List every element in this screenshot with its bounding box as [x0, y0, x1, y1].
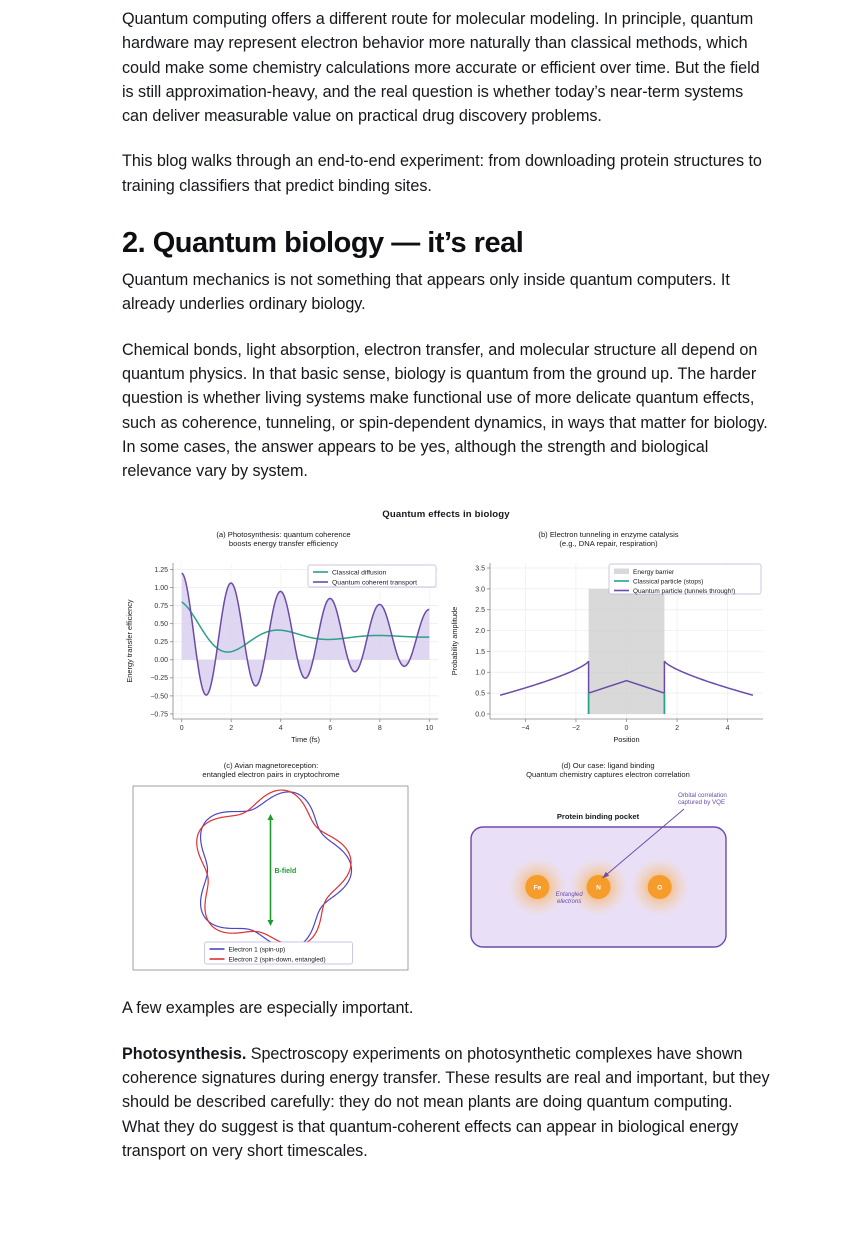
panel-c-legend-0: Electron 1 (spin-up)	[229, 947, 286, 954]
svg-text:4: 4	[279, 725, 283, 732]
svg-text:3.0: 3.0	[475, 587, 485, 594]
panel-d-atom-fe: Fe	[507, 857, 567, 917]
figure-suptitle: Quantum effects in biology	[121, 509, 771, 520]
article-content: Quantum computing offers a different rou…	[122, 7, 770, 1163]
chart-panel-d: (d) Our case: ligand bindingQuantum chem…	[446, 755, 771, 980]
figure-quantum-effects: Quantum effects in biology (a) Photosynt…	[121, 505, 771, 980]
panel-d-annotation-line2: captured by VQE	[678, 799, 725, 806]
svg-text:6: 6	[328, 725, 332, 732]
svg-text:0.5: 0.5	[475, 691, 485, 698]
panel-b-quantum-right	[664, 661, 752, 695]
svg-text:2.5: 2.5	[475, 608, 485, 615]
panel-a-xlabel: Time (fs)	[291, 735, 320, 744]
panel-a-title-line1: (a) Photosynthesis: quantum coherence	[216, 530, 350, 539]
svg-text:−0.25: −0.25	[150, 676, 168, 683]
svg-text:1.25: 1.25	[154, 567, 168, 574]
panel-d-title-line1: (d) Our case: ligand binding	[561, 761, 654, 770]
panel-d-atom-n: N	[569, 857, 629, 917]
panel-a-legend-0: Classical diffusion	[332, 570, 386, 577]
panel-b-legend-2: Quantum particle (tunnels through!)	[633, 588, 735, 595]
paragraph-blog-overview: This blog walks through an end-to-end ex…	[122, 149, 770, 198]
svg-text:2: 2	[229, 725, 233, 732]
paragraph-few-examples: A few examples are especially important.	[122, 996, 770, 1020]
svg-text:2.0: 2.0	[475, 628, 485, 635]
panel-d-annotation-line1: Orbital correlation	[678, 792, 727, 799]
panel-b-title-line1: (b) Electron tunneling in enzyme catalys…	[538, 530, 678, 539]
svg-text:1.5: 1.5	[475, 649, 485, 656]
chart-panel-c: (c) Avian magnetoreception:entangled ele…	[121, 755, 446, 980]
svg-text:0.0: 0.0	[475, 712, 485, 719]
chart-panel-b: (b) Electron tunneling in enzyme catalys…	[446, 527, 771, 755]
svg-text:−0.75: −0.75	[150, 712, 168, 719]
section-heading-quantum-biology: 2. Quantum biology — it’s real	[122, 226, 770, 260]
panel-c-title-line2: entangled electron pairs in cryptochrome	[202, 770, 339, 779]
panel-d-pocket-label: Protein binding pocket	[557, 812, 640, 821]
panel-b-title-line2: (e.g., DNA repair, respiration)	[559, 539, 658, 548]
panel-b-quantum-left	[500, 661, 588, 695]
blog-page: Quantum computing offers a different rou…	[0, 7, 867, 1234]
chart-panel-a: (a) Photosynthesis: quantum coherenceboo…	[121, 527, 446, 755]
svg-text:0.25: 0.25	[154, 640, 168, 647]
svg-text:−4: −4	[521, 725, 529, 732]
panel-c-legend-1: Electron 2 (spin-down, entangled)	[229, 957, 326, 964]
panel-d-atom-o: O	[630, 857, 690, 917]
svg-text:8: 8	[378, 725, 382, 732]
svg-text:O: O	[657, 885, 662, 892]
svg-text:1.0: 1.0	[475, 670, 485, 677]
panel-b-legend-0: Energy barrier	[633, 569, 675, 576]
paragraph-intro: Quantum computing offers a different rou…	[122, 7, 770, 128]
svg-text:−2: −2	[572, 725, 580, 732]
panel-c-bfield-label: B-field	[275, 868, 297, 875]
panel-d-entangled-label-line1: Entangled	[556, 892, 584, 898]
svg-text:0.75: 0.75	[154, 603, 168, 610]
paragraph-photosynthesis: Photosynthesis. Spectroscopy experiments…	[122, 1042, 770, 1163]
paragraph-chemical-bonds: Chemical bonds, light absorption, electr…	[122, 338, 770, 484]
panel-b-energy-barrier	[589, 589, 665, 714]
svg-text:N: N	[596, 885, 601, 892]
photosynthesis-lead: Photosynthesis.	[122, 1045, 246, 1063]
panel-b-ylabel: Probability amplitude	[450, 607, 459, 676]
svg-text:0: 0	[625, 725, 629, 732]
panel-b-legend-1: Classical particle (stops)	[633, 579, 703, 586]
svg-text:4: 4	[726, 725, 730, 732]
panel-a-legend-1: Quantum coherent transport	[332, 580, 417, 587]
panel-b-xlabel: Position	[613, 735, 639, 744]
svg-text:Fe: Fe	[533, 885, 541, 892]
svg-text:0.00: 0.00	[154, 658, 168, 665]
panel-d-title-line2: Quantum chemistry captures electron corr…	[526, 770, 690, 779]
panel-c-title-line1: (c) Avian magnetoreception:	[224, 761, 318, 770]
svg-text:3.5: 3.5	[475, 566, 485, 573]
svg-text:1.00: 1.00	[154, 585, 168, 592]
paragraph-quantum-mechanics: Quantum mechanics is not something that …	[122, 268, 770, 317]
svg-text:0.50: 0.50	[154, 622, 168, 629]
svg-text:0: 0	[180, 725, 184, 732]
svg-text:10: 10	[425, 725, 433, 732]
panel-d-entangled-label-line2: electrons	[557, 899, 581, 905]
panel-a-title-line2: boosts energy transfer efficiency	[229, 539, 338, 548]
svg-text:−0.50: −0.50	[150, 694, 168, 701]
svg-text:2: 2	[675, 725, 679, 732]
panel-a-ylabel: Energy transfer efficiency	[125, 600, 134, 684]
